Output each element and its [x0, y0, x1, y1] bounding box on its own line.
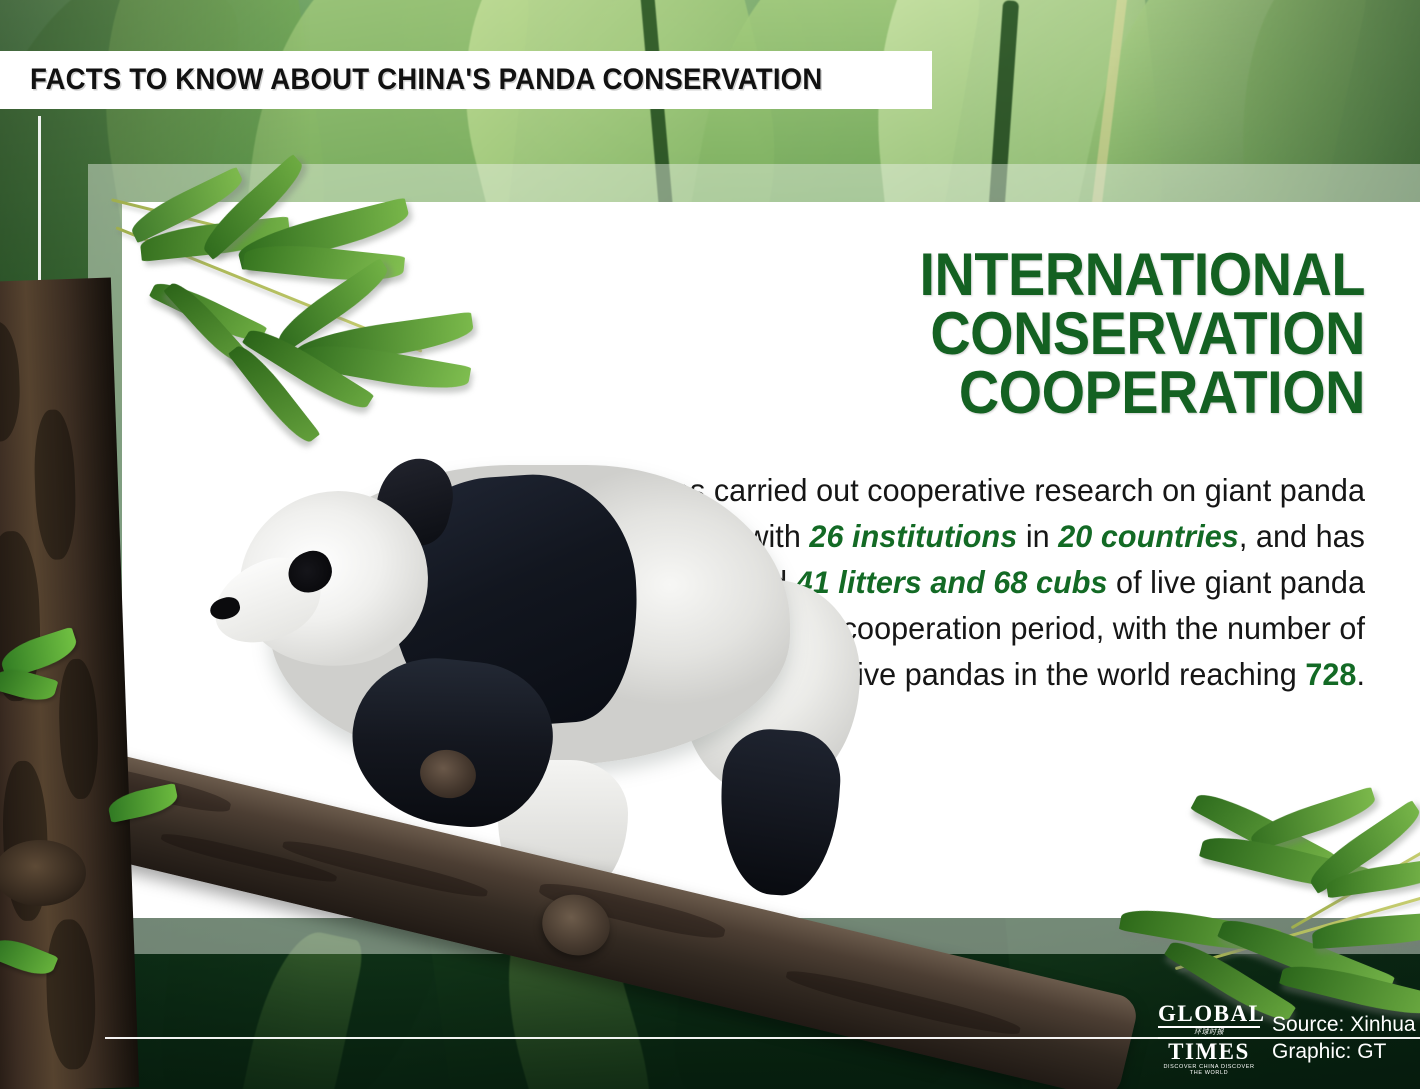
- stat-countries: 20 countries: [1058, 518, 1239, 554]
- footer-credits: GLOBAL 环球时报 TIMES DISCOVER CHINA DISCOVE…: [1158, 1002, 1416, 1076]
- logo-line-times: TIMES: [1158, 1037, 1260, 1063]
- bamboo-sprig-bottom-right: [1130, 800, 1420, 1030]
- logo-tagline: DISCOVER CHINA DISCOVER THE WORLD: [1158, 1065, 1260, 1076]
- logo-line-global: GLOBAL: [1158, 1002, 1260, 1028]
- infographic-canvas: FACTS TO KNOW ABOUT CHINA'S PANDA CONSER…: [0, 0, 1420, 1089]
- headline-banner: FACTS TO KNOW ABOUT CHINA'S PANDA CONSER…: [0, 51, 932, 109]
- global-times-logo: GLOBAL 环球时报 TIMES DISCOVER CHINA DISCOVE…: [1158, 1002, 1260, 1076]
- headline-kicker: FACTS TO KNOW ABOUT CHINA'S PANDA CONSER…: [30, 63, 822, 97]
- bamboo-sprig-top-left: [118, 196, 498, 426]
- body-segment-2: in: [1017, 518, 1058, 554]
- credit-lines: Source: Xinhua Graphic: GT: [1272, 1012, 1416, 1066]
- page-title: INTERNATIONAL CONSERVATION COOPERATION: [565, 246, 1365, 422]
- stat-captive-total: 728: [1305, 656, 1356, 692]
- logo-chinese-name: 环球时报: [1158, 1029, 1260, 1036]
- title-line-2: COOPERATION: [565, 364, 1365, 423]
- panda-photo: [120, 430, 880, 990]
- body-segment-5: .: [1356, 656, 1365, 692]
- credit-source: Source: Xinhua: [1272, 1012, 1416, 1039]
- credit-graphic: Graphic: GT: [1272, 1039, 1416, 1066]
- title-line-1: INTERNATIONAL CONSERVATION: [565, 246, 1365, 364]
